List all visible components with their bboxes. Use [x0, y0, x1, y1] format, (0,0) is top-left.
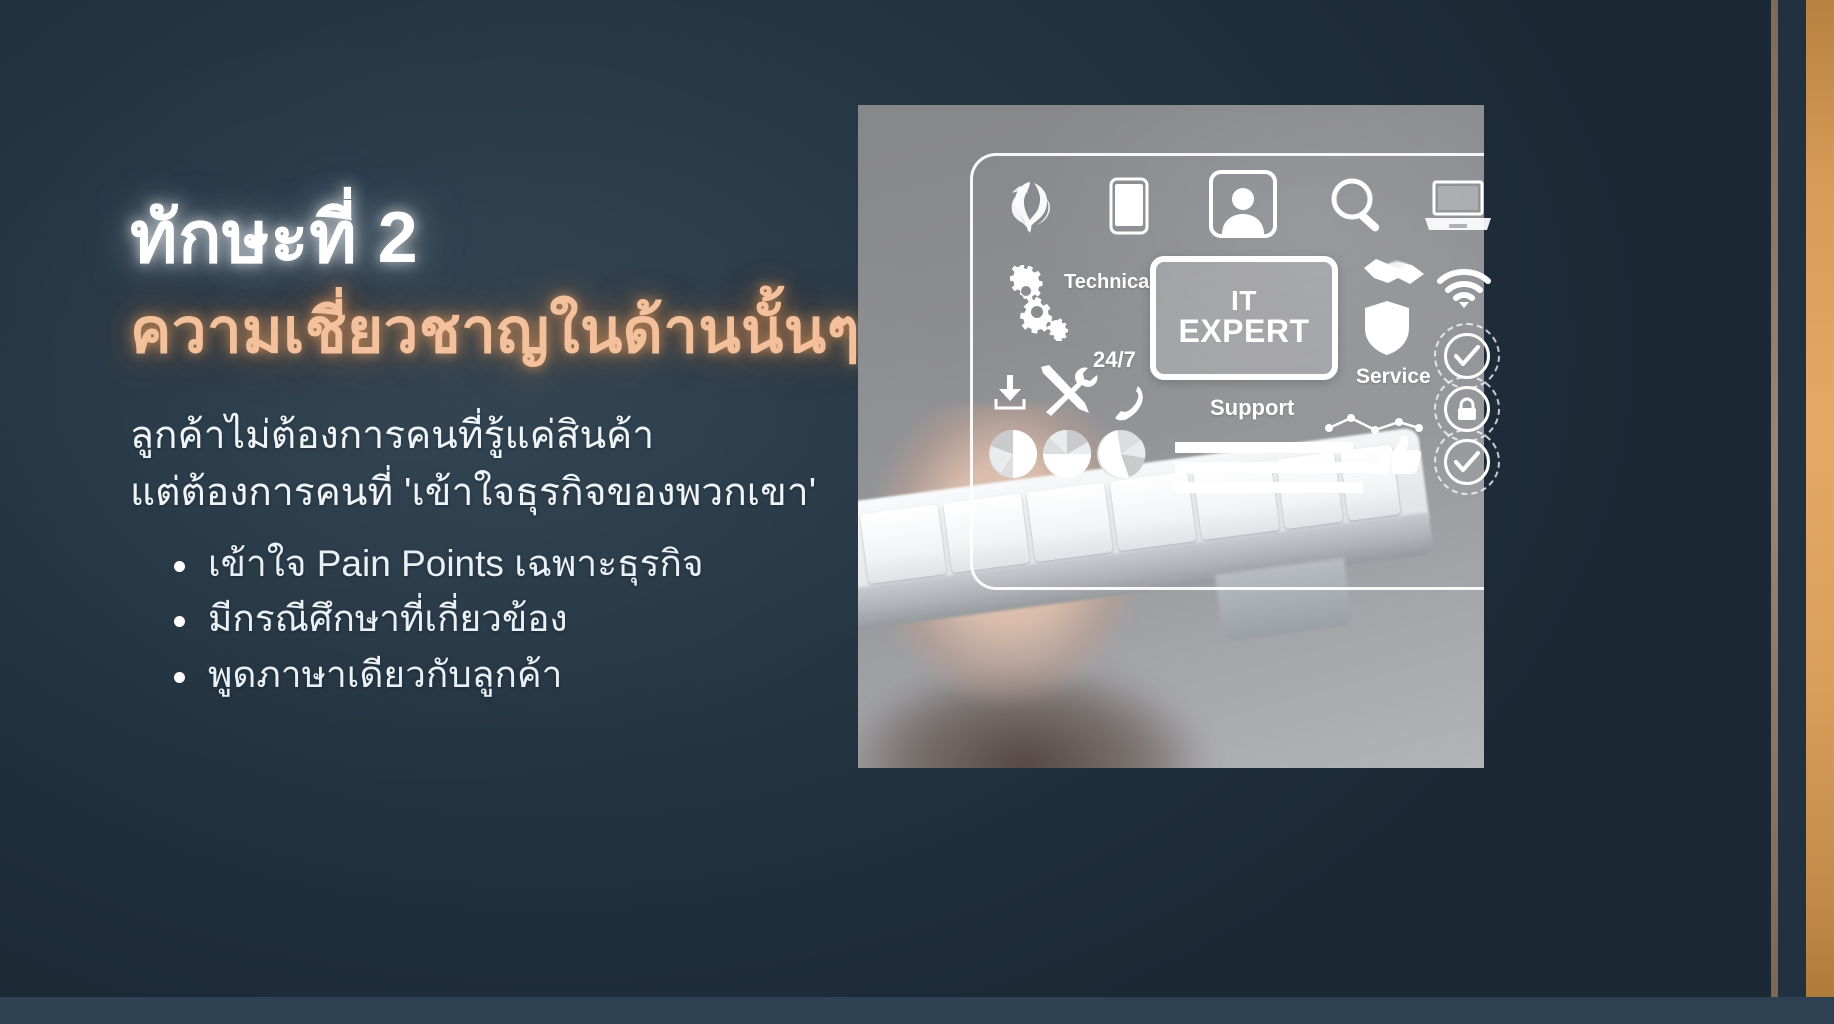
- lock-circle-icon: [1444, 386, 1490, 432]
- lead-line-1: ลูกค้าไม่ต้องการคนที่รู้แค่สินค้า: [130, 408, 950, 465]
- network-nodes-icon: [1325, 410, 1423, 438]
- list-item-label: พูดภาษาเดียวกับลูกค้า: [208, 654, 562, 695]
- wifi-icon: [1436, 268, 1492, 310]
- keyboard-key: [860, 504, 946, 584]
- pie-chart-icon-2: [1041, 428, 1093, 480]
- list-item-label: มีกรณีศึกษาที่เกี่ยวข้อง: [208, 598, 568, 639]
- list-item-label: เข้าใจ Pain Points เฉพาะธุรกิจ: [208, 543, 704, 584]
- list-item: มีกรณีศึกษาที่เกี่ยวข้อง: [174, 594, 950, 643]
- decor-stripe-navy: [1778, 0, 1806, 1024]
- label-service: Service: [1356, 365, 1431, 389]
- check-circle-icon: [1444, 333, 1490, 379]
- phone-icon: [1110, 383, 1146, 425]
- label-support: Support: [1210, 395, 1294, 421]
- bullet-dot-icon: [174, 672, 185, 683]
- download-icon: [993, 375, 1027, 411]
- check-circle-icon-2: [1444, 439, 1490, 485]
- lead-line-2: แต่ต้องการคนที่ 'เข้าใจธุรกิจของพวกเขา': [130, 465, 950, 522]
- text-column: ทักษะที่ 2 ความเชี่ยวชาญในด้านนั้นๆ ลูกค…: [130, 196, 950, 705]
- thumbs-up-icon: [1376, 432, 1422, 478]
- decor-stripe-tan: [1771, 0, 1778, 1024]
- handshake-icon: [1362, 248, 1426, 288]
- text-bars-icon: [1175, 442, 1353, 453]
- text-bars-icon: [1175, 482, 1363, 493]
- tools-icon: [1036, 365, 1098, 417]
- bullet-list: เข้าใจ Pain Points เฉพาะธุรกิจ มีกรณีศึก…: [130, 539, 950, 699]
- bottom-band: [0, 997, 1834, 1024]
- lead-paragraph: ลูกค้าไม่ต้องการคนที่รู้แค่สินค้า แต่ต้อ…: [130, 408, 950, 521]
- bullet-dot-icon: [174, 616, 185, 627]
- decor-stripe-copper: [1806, 0, 1834, 1024]
- it-expert-line-1: IT: [1231, 287, 1257, 315]
- shield-icon: [1363, 300, 1411, 356]
- magnifier-icon: [1327, 175, 1389, 237]
- list-item: เข้าใจ Pain Points เฉพาะธุรกิจ: [174, 539, 950, 588]
- label-technical: Technical: [1064, 271, 1155, 294]
- pie-chart-icon-1: [987, 428, 1039, 480]
- it-expert-line-2: EXPERT: [1178, 315, 1309, 349]
- person-icon: [1209, 170, 1277, 238]
- page-subtitle: ความเชี่ยวชาญในด้านนั้นๆ: [130, 295, 950, 368]
- list-item: พูดภาษาเดียวกับลูกค้า: [174, 650, 950, 699]
- bullet-dot-icon: [174, 561, 185, 572]
- globe-icon: [1000, 180, 1062, 238]
- page-title: ทักษะที่ 2: [130, 196, 950, 281]
- laptop-icon: [1423, 180, 1493, 236]
- pie-chart-icon-3: [1095, 428, 1147, 480]
- slide-canvas: ทักษะที่ 2 ความเชี่ยวชาญในด้านนั้นๆ ลูกค…: [0, 0, 1834, 1024]
- tablet-icon: [1109, 177, 1149, 235]
- it-expert-card: IT EXPERT: [1150, 256, 1338, 380]
- label-24-7: 24/7: [1093, 347, 1136, 373]
- text-bars-icon: [1175, 462, 1378, 473]
